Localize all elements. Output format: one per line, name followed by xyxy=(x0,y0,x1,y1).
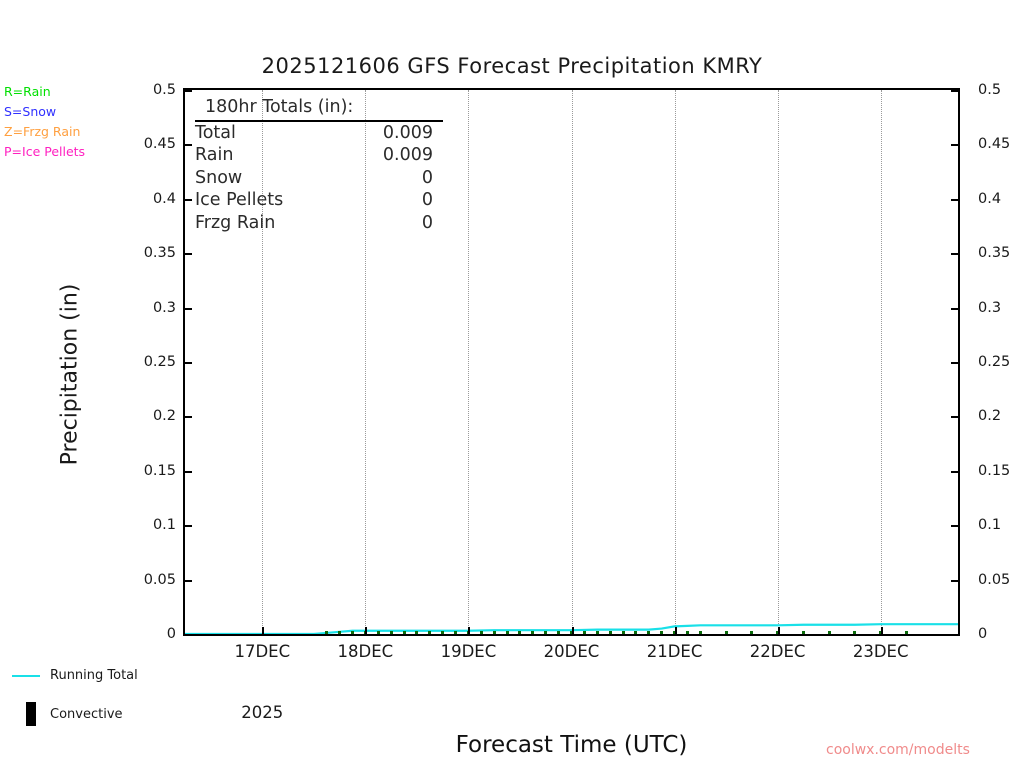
y-tick-label-left: 0 xyxy=(0,626,176,642)
y-tick-mark-right xyxy=(951,253,958,255)
convective-bar xyxy=(325,631,328,634)
plot-inner: RRRRRRRRRRRRRRRRRRRRRRRRRRRRRRRRRRRRRRRR… xyxy=(185,90,958,634)
convective-bar xyxy=(905,631,908,634)
y-tick-label-left: 0.45 xyxy=(0,136,176,152)
convective-bar xyxy=(480,631,483,634)
y-tick-mark-left xyxy=(185,253,192,255)
y-tick-mark-right xyxy=(951,308,958,310)
y-tick-mark-left xyxy=(185,580,192,582)
totals-row-value: 0.009 xyxy=(383,144,433,167)
convective-bar xyxy=(531,631,534,634)
totals-row: Rain0.009 xyxy=(195,144,433,167)
totals-row-label: Ice Pellets xyxy=(195,189,283,212)
x-tick-mark xyxy=(572,627,574,634)
y-tick-label-right: 0.05 xyxy=(978,572,1010,588)
x-tick-mark xyxy=(365,627,367,634)
x-tick-label: 17DEC xyxy=(234,642,290,661)
y-tick-mark-left xyxy=(185,416,192,418)
convective-bar xyxy=(725,631,728,634)
convective-bar xyxy=(557,631,560,634)
convective-bar xyxy=(338,631,341,634)
convective-bar xyxy=(428,631,431,634)
totals-row-value: 0 xyxy=(422,212,433,235)
totals-row-value: 0.009 xyxy=(383,122,433,145)
y-tick-label-left: 0.1 xyxy=(0,517,176,533)
convective-bar xyxy=(506,631,509,634)
y-tick-mark-left xyxy=(185,199,192,201)
totals-row-value: 0 xyxy=(422,167,433,190)
totals-row-label: Frzg Rain xyxy=(195,212,275,235)
y-tick-mark-right xyxy=(951,634,958,636)
totals-rows: Total0.009Rain0.009Snow0Ice Pellets0Frzg… xyxy=(195,122,455,235)
totals-row: Frzg Rain0 xyxy=(195,212,433,235)
y-tick-label-left: 0.5 xyxy=(0,82,176,98)
running-total-line-swatch xyxy=(12,675,40,677)
convective-bar xyxy=(518,631,521,634)
running-total-label: Running Total xyxy=(50,668,138,683)
convective-bar xyxy=(441,631,444,634)
y-tick-mark-right xyxy=(951,471,958,473)
y-tick-label-right: 0.15 xyxy=(978,463,1010,479)
y-tick-label-left: 0.15 xyxy=(0,463,176,479)
y-tick-label-right: 0.45 xyxy=(978,136,1010,152)
y-tick-label-left: 0.05 xyxy=(0,572,176,588)
x-tick-mark xyxy=(881,627,883,634)
convective-bar xyxy=(802,631,805,634)
convective-bar xyxy=(609,631,612,634)
totals-summary-box: 180hr Totals (in): Total0.009Rain0.009Sn… xyxy=(195,96,455,235)
x-tick-label: 21DEC xyxy=(647,642,703,661)
y-tick-label-left: 0.25 xyxy=(0,354,176,370)
convective-bar xyxy=(351,631,354,634)
convective-bar xyxy=(699,631,702,634)
y-tick-mark-right xyxy=(951,416,958,418)
x-tick-mark xyxy=(675,627,677,634)
convective-bar xyxy=(660,631,663,634)
convective-bar xyxy=(415,631,418,634)
convective-bar xyxy=(686,631,689,634)
convective-bar xyxy=(583,631,586,634)
y-tick-label-left: 0.2 xyxy=(0,408,176,424)
y-tick-label-right: 0.2 xyxy=(978,408,1001,424)
y-tick-mark-left xyxy=(185,471,192,473)
convective-bar xyxy=(454,631,457,634)
y-tick-label-left: 0.3 xyxy=(0,300,176,316)
x-tick-label: 20DEC xyxy=(544,642,600,661)
chart-plot-area[interactable]: RRRRRRRRRRRRRRRRRRRRRRRRRRRRRRRRRRRRRRRR… xyxy=(183,88,960,636)
x-tick-label: 23DEC xyxy=(853,642,909,661)
convective-bar xyxy=(544,631,547,634)
y-tick-mark-left xyxy=(185,362,192,364)
y-tick-label-right: 0 xyxy=(978,626,987,642)
convective-bar-swatch xyxy=(26,702,36,726)
convective-bar xyxy=(853,631,856,634)
convective-label: Convective xyxy=(50,707,123,722)
convective-bar xyxy=(596,631,599,634)
convective-bar xyxy=(622,631,625,634)
y-tick-mark-right xyxy=(951,199,958,201)
convective-bar xyxy=(634,631,637,634)
y-tick-mark-right xyxy=(951,144,958,146)
y-tick-label-left: 0.4 xyxy=(0,191,176,207)
y-tick-mark-left xyxy=(185,525,192,527)
convective-bar xyxy=(493,631,496,634)
y-tick-mark-left xyxy=(185,90,192,92)
y-tick-mark-left xyxy=(185,144,192,146)
y-tick-label-right: 0.35 xyxy=(978,245,1010,261)
y-tick-mark-right xyxy=(951,580,958,582)
convective-bar xyxy=(750,631,753,634)
totals-heading: 180hr Totals (in): xyxy=(195,96,443,122)
y-tick-mark-right xyxy=(951,362,958,364)
convective-bar xyxy=(390,631,393,634)
totals-row-label: Rain xyxy=(195,144,233,167)
y-tick-mark-right xyxy=(951,90,958,92)
convective-bar xyxy=(377,631,380,634)
y-tick-label-right: 0.25 xyxy=(978,354,1010,370)
totals-row: Ice Pellets0 xyxy=(195,189,433,212)
convective-bar xyxy=(828,631,831,634)
y-tick-label-left: 0.35 xyxy=(0,245,176,261)
x-tick-mark xyxy=(262,627,264,634)
x-tick-label: 18DEC xyxy=(338,642,394,661)
totals-row-label: Snow xyxy=(195,167,242,190)
y-tick-mark-right xyxy=(951,525,958,527)
totals-row: Total0.009 xyxy=(195,122,433,145)
y-tick-label-right: 0.3 xyxy=(978,300,1001,316)
y-tick-mark-left xyxy=(185,308,192,310)
y-tick-label-right: 0.5 xyxy=(978,82,1001,98)
legend-convective: Convective xyxy=(12,702,123,726)
totals-row-label: Total xyxy=(195,122,236,145)
x-tick-mark xyxy=(778,627,780,634)
legend-item-snow: S=Snow xyxy=(4,102,85,122)
x-tick-label: 22DEC xyxy=(750,642,806,661)
x-tick-mark xyxy=(468,627,470,634)
y-tick-label-right: 0.4 xyxy=(978,191,1001,207)
totals-row: Snow0 xyxy=(195,167,433,190)
legend-running-total: Running Total xyxy=(12,668,138,683)
convective-bar xyxy=(403,631,406,634)
x-tick-label: 19DEC xyxy=(441,642,497,661)
watermark: coolwx.com/modelts xyxy=(826,742,970,758)
y-tick-mark-left xyxy=(185,634,192,636)
convective-bar xyxy=(647,631,650,634)
totals-row-value: 0 xyxy=(422,189,433,212)
page-title: 2025121606 GFS Forecast Precipitation KM… xyxy=(0,54,1024,78)
y-tick-label-right: 0.1 xyxy=(978,517,1001,533)
x-axis-year-label: 2025 xyxy=(241,703,283,722)
